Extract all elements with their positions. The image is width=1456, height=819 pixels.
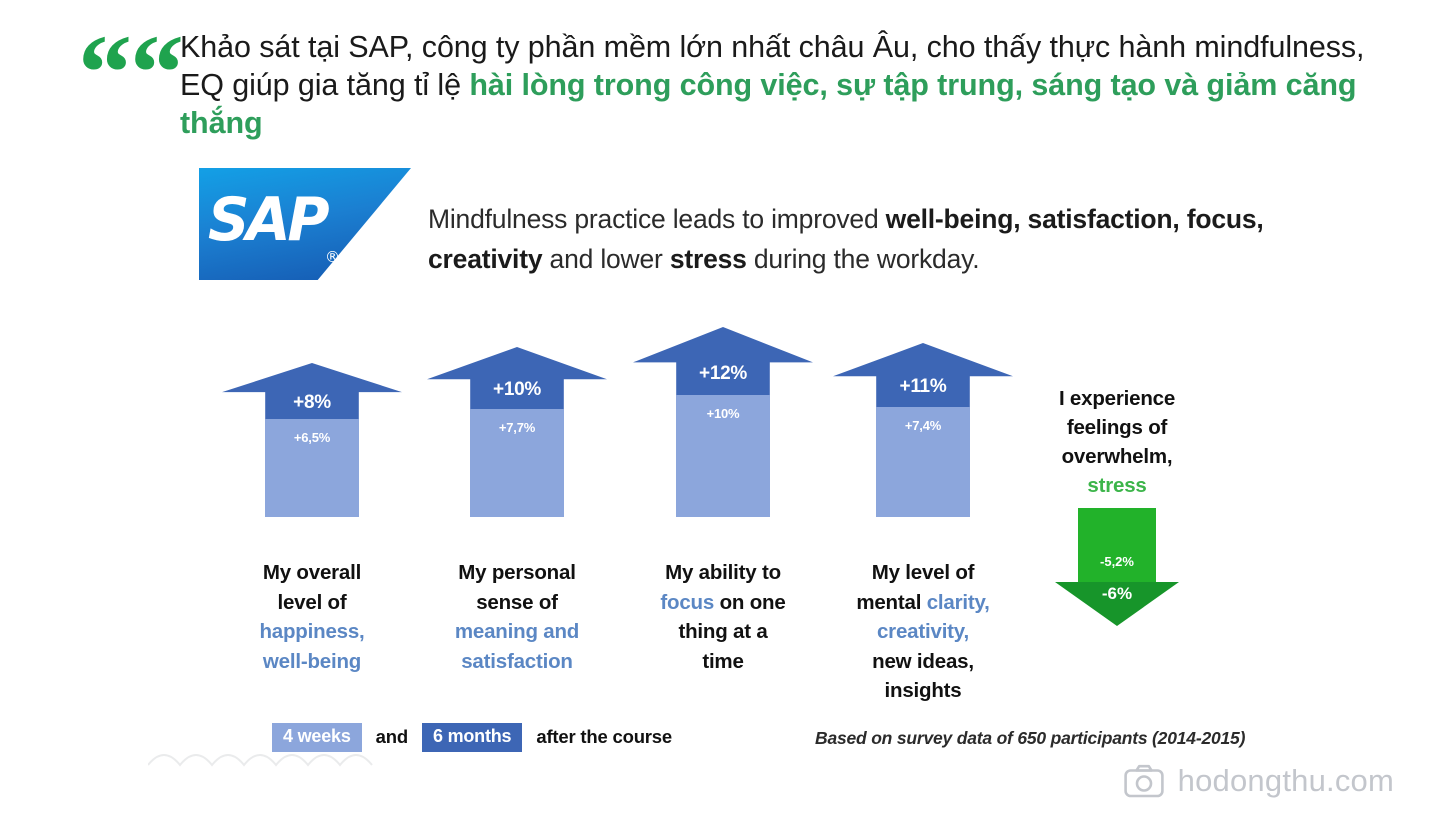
- arrow-body-label-2: +7,7%: [470, 420, 564, 435]
- source-note: Based on survey data of 650 participants…: [815, 728, 1245, 749]
- caption-2-line-4: satisfaction: [461, 650, 573, 673]
- camera-icon: [1124, 764, 1164, 798]
- caption-2-line-1: My personal: [458, 561, 575, 584]
- caption-4-line-2-black: mental: [856, 591, 926, 614]
- caption-4-line-3: creativity,: [877, 620, 969, 643]
- arrow-head-label-3: +12%: [633, 363, 813, 385]
- caption-3-line-2-blue: focus: [660, 591, 714, 614]
- arrow-caption-3: My ability to focus on one thing at a ti…: [623, 558, 823, 676]
- caption-1-line-1: My overall: [263, 561, 361, 584]
- scallop-artifact: [148, 745, 378, 767]
- arrow-caption-2: My personal sense of meaning and satisfa…: [417, 558, 617, 676]
- arrow-body-label-3: +10%: [676, 406, 770, 421]
- caption-2-line-3: meaning and: [455, 620, 579, 643]
- stress-caption: I experience feelings of overwhelm, stre…: [1028, 384, 1206, 500]
- arrow-caption-1: My overall level of happiness, well-bein…: [212, 558, 412, 676]
- arrow-head-label-1: +8%: [222, 392, 402, 414]
- caption-1-line-4: well-being: [263, 650, 361, 673]
- arrow-head-label-2: +10%: [427, 379, 607, 401]
- legend-chip-6-months: 6 months: [422, 723, 522, 752]
- stress-caption-line-2: feelings of: [1067, 416, 1167, 439]
- legend-conjunction: and: [376, 726, 408, 748]
- arrow-head-label-4: +11%: [833, 376, 1013, 398]
- caption-4-line-1: My level of: [872, 561, 975, 584]
- down-arrow-head-label: -6%: [1067, 584, 1167, 604]
- caption-3-line-4: time: [702, 650, 743, 673]
- caption-1-line-3: happiness,: [259, 620, 364, 643]
- stress-column: I experience feelings of overwhelm, stre…: [1028, 384, 1206, 500]
- legend-suffix: after the course: [536, 726, 672, 748]
- watermark: hodongthu.com: [1124, 763, 1394, 799]
- caption-4-line-4: new ideas,: [872, 650, 974, 673]
- caption-1-line-2: level of: [277, 591, 346, 614]
- arrow-chart: +8% +6,5% My overall level of happiness,…: [0, 0, 1456, 819]
- caption-3-line-3: thing at a: [678, 620, 767, 643]
- caption-3-line-1: My ability to: [665, 561, 781, 584]
- arrow-caption-4: My level of mental clarity, creativity, …: [823, 558, 1023, 706]
- stress-caption-keyword: stress: [1087, 474, 1146, 497]
- arrow-body-label-1: +6,5%: [265, 430, 359, 445]
- caption-4-line-5: insights: [885, 679, 962, 702]
- down-arrow-body: [1078, 508, 1156, 586]
- down-arrow-graphic: -5,2% -6%: [1055, 508, 1179, 624]
- arrow-body-label-4: +7,4%: [876, 418, 970, 433]
- caption-3-line-2-rest: on one: [714, 591, 785, 614]
- watermark-text: hodongthu.com: [1178, 763, 1394, 799]
- stress-caption-line-3: overwhelm,: [1062, 445, 1173, 468]
- down-arrow-body-label: -5,2%: [1078, 554, 1156, 569]
- caption-2-line-2: sense of: [476, 591, 558, 614]
- stress-caption-line-1: I experience: [1059, 387, 1175, 410]
- caption-4-line-2-blue: clarity,: [927, 591, 990, 614]
